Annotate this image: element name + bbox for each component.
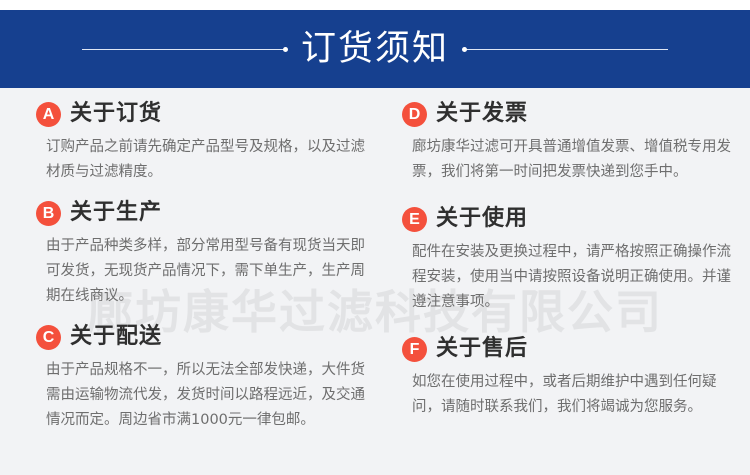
section-e-header: E 关于使用 — [402, 207, 736, 232]
section-f-header: F 关于售后 — [402, 337, 736, 362]
section-c-header: C 关于配送 — [36, 325, 380, 350]
page-banner: 订货须知 — [0, 10, 750, 88]
section-b-header: B 关于生产 — [36, 201, 380, 226]
badge-f-icon: F — [402, 337, 427, 362]
section-e-body: 配件在安装及更换过程中，请严格按照正确操作流程安装，使用当中请按照设备说明正确使… — [402, 240, 732, 315]
section-b: B 关于生产 由于产品种类多样，部分常用型号备有现货当天即可发货，无现货产品情况… — [36, 201, 380, 309]
section-f-body: 如您在使用过程中，或者后期维护中遇到任何疑问，请随时联系我们，我们将竭诚为您服务… — [402, 370, 732, 420]
content-area: 廊坊康华过滤科技有限公司 A 关于订货 订购产品之前请先确定产品型号及规格，以及… — [0, 88, 750, 475]
section-d-title: 关于发票 — [436, 102, 528, 126]
section-c-body: 由于产品规格不一，所以无法全部发快递，大件货需由运输物流代发，发货时间以路程远近… — [36, 358, 376, 433]
banner-decoration-line-right — [463, 49, 668, 50]
section-b-body: 由于产品种类多样，部分常用型号备有现货当天即可发货，无现货产品情况下，需下单生产… — [36, 234, 376, 309]
badge-d-icon: D — [402, 102, 427, 127]
section-a-body: 订购产品之前请先确定产品型号及规格，以及过滤材质与过滤精度。 — [36, 135, 376, 185]
section-e-title: 关于使用 — [436, 207, 528, 231]
order-notice-page: 订货须知 廊坊康华过滤科技有限公司 A 关于订货 订购产品之前请先确定产品型号及… — [0, 0, 750, 475]
badge-a-icon: A — [36, 102, 61, 127]
badge-e-icon: E — [402, 207, 427, 232]
left-column: A 关于订货 订购产品之前请先确定产品型号及规格，以及过滤材质与过滤精度。 B … — [0, 102, 390, 447]
section-c-title: 关于配送 — [70, 325, 162, 349]
section-f-title: 关于售后 — [436, 337, 528, 361]
section-b-title: 关于生产 — [70, 201, 162, 225]
banner-decoration-line-left — [82, 49, 287, 50]
section-d: D 关于发票 廊坊康华过滤可开具普通增值发票、增值税专用发票，我们将第一时间把发… — [402, 102, 736, 185]
section-d-body: 廊坊康华过滤可开具普通增值发票、增值税专用发票，我们将第一时间把发票快递到您手中… — [402, 135, 732, 185]
badge-b-icon: B — [36, 201, 61, 226]
banner-inner: 订货须知 — [0, 10, 750, 88]
page-title: 订货须知 — [287, 32, 463, 67]
sections-columns: A 关于订货 订购产品之前请先确定产品型号及规格，以及过滤材质与过滤精度。 B … — [0, 88, 750, 447]
section-c: C 关于配送 由于产品规格不一，所以无法全部发快递，大件货需由运输物流代发，发货… — [36, 325, 380, 433]
right-column: D 关于发票 廊坊康华过滤可开具普通增值发票、增值税专用发票，我们将第一时间把发… — [390, 102, 750, 447]
section-e: E 关于使用 配件在安装及更换过程中，请严格按照正确操作流程安装，使用当中请按照… — [402, 207, 736, 315]
section-f: F 关于售后 如您在使用过程中，或者后期维护中遇到任何疑问，请随时联系我们，我们… — [402, 337, 736, 420]
badge-c-icon: C — [36, 325, 61, 350]
banner-dot-left-icon — [283, 47, 288, 52]
section-a-header: A 关于订货 — [36, 102, 380, 127]
section-a-title: 关于订货 — [70, 102, 162, 126]
banner-dot-right-icon — [462, 47, 467, 52]
section-a: A 关于订货 订购产品之前请先确定产品型号及规格，以及过滤材质与过滤精度。 — [36, 102, 380, 185]
section-d-header: D 关于发票 — [402, 102, 736, 127]
